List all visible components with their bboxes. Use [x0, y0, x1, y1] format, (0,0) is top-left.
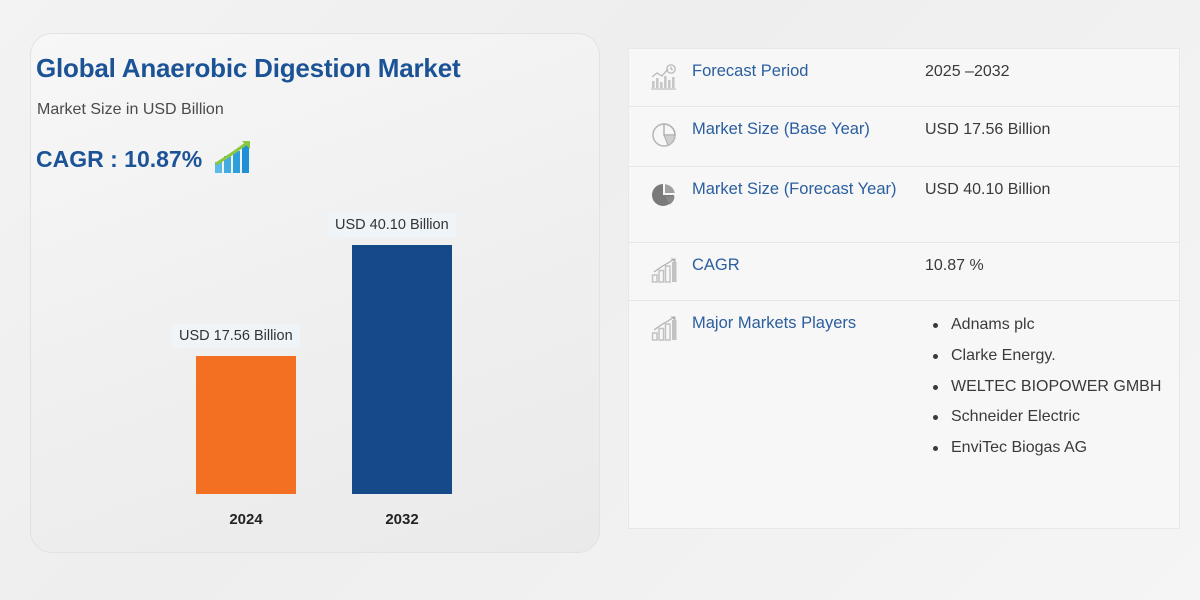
- row-label: Major Markets Players: [685, 313, 921, 335]
- list-item: Adnams plc: [947, 313, 1179, 338]
- bar-category-2032: 2032: [352, 511, 452, 528]
- cagr-highlight: CAGR : 10.87%: [36, 140, 254, 179]
- row-label: Forecast Period: [685, 61, 921, 83]
- table-row-market-size-base-year: Market Size (Base Year) USD 17.56 Billio…: [629, 107, 1179, 167]
- chart-subtitle: Market Size in USD Billion: [37, 101, 224, 119]
- bar-data-label-2024: USD 17.56 Billion: [172, 324, 300, 348]
- list-item: EnviTec Biogas AG: [947, 436, 1179, 461]
- major-players-list: Adnams plc Clarke Energy. WELTEC BIOPOWE…: [925, 313, 1179, 461]
- row-value: USD 40.10 Billion: [921, 179, 1179, 200]
- bar-chart-growth-icon: [643, 313, 685, 343]
- bar-data-label-2032: USD 40.10 Billion: [328, 213, 456, 237]
- bar-category-2024: 2024: [196, 511, 296, 528]
- table-row-forecast-period: Forecast Period 2025 –2032: [629, 49, 1179, 107]
- list-item: Clarke Energy.: [947, 344, 1179, 369]
- list-item: WELTEC BIOPOWER GMBH: [947, 375, 1179, 400]
- row-value: 2025 –2032: [921, 61, 1179, 82]
- row-label: CAGR: [685, 255, 921, 277]
- table-row-market-size-forecast-year: Market Size (Forecast Year) USD 40.10 Bi…: [629, 167, 1179, 243]
- row-label: Market Size (Forecast Year): [685, 179, 921, 201]
- page-title: Global Anaerobic Digestion Market: [36, 53, 460, 84]
- market-infographic: Global Anaerobic Digestion Market Market…: [0, 0, 1200, 600]
- table-row-cagr: CAGR 10.87 %: [629, 243, 1179, 301]
- spec-table: Forecast Period 2025 –2032 Market Size (…: [628, 48, 1180, 529]
- row-value: 10.87 %: [921, 255, 1179, 276]
- pie-chart-outline-icon: [643, 119, 685, 149]
- table-row-major-markets-players: Major Markets Players Adnams plc Clarke …: [629, 301, 1179, 529]
- row-value: Adnams plc Clarke Energy. WELTEC BIOPOWE…: [921, 313, 1179, 467]
- list-item: Schneider Electric: [947, 405, 1179, 430]
- pie-chart-filled-icon: [643, 179, 685, 209]
- row-label: Market Size (Base Year): [685, 119, 921, 141]
- bar-chart: USD 17.56 Billion 2024 USD 40.10 Billion…: [150, 195, 510, 535]
- bar-2032: [352, 245, 452, 494]
- row-value: USD 17.56 Billion: [921, 119, 1179, 140]
- bar-2024: [196, 356, 296, 494]
- bar-chart-growth-icon: [643, 255, 685, 285]
- growth-bar-chart-icon: [214, 140, 254, 179]
- cagr-value-text: CAGR : 10.87%: [36, 146, 202, 173]
- forecast-chart-clock-icon: [643, 61, 685, 91]
